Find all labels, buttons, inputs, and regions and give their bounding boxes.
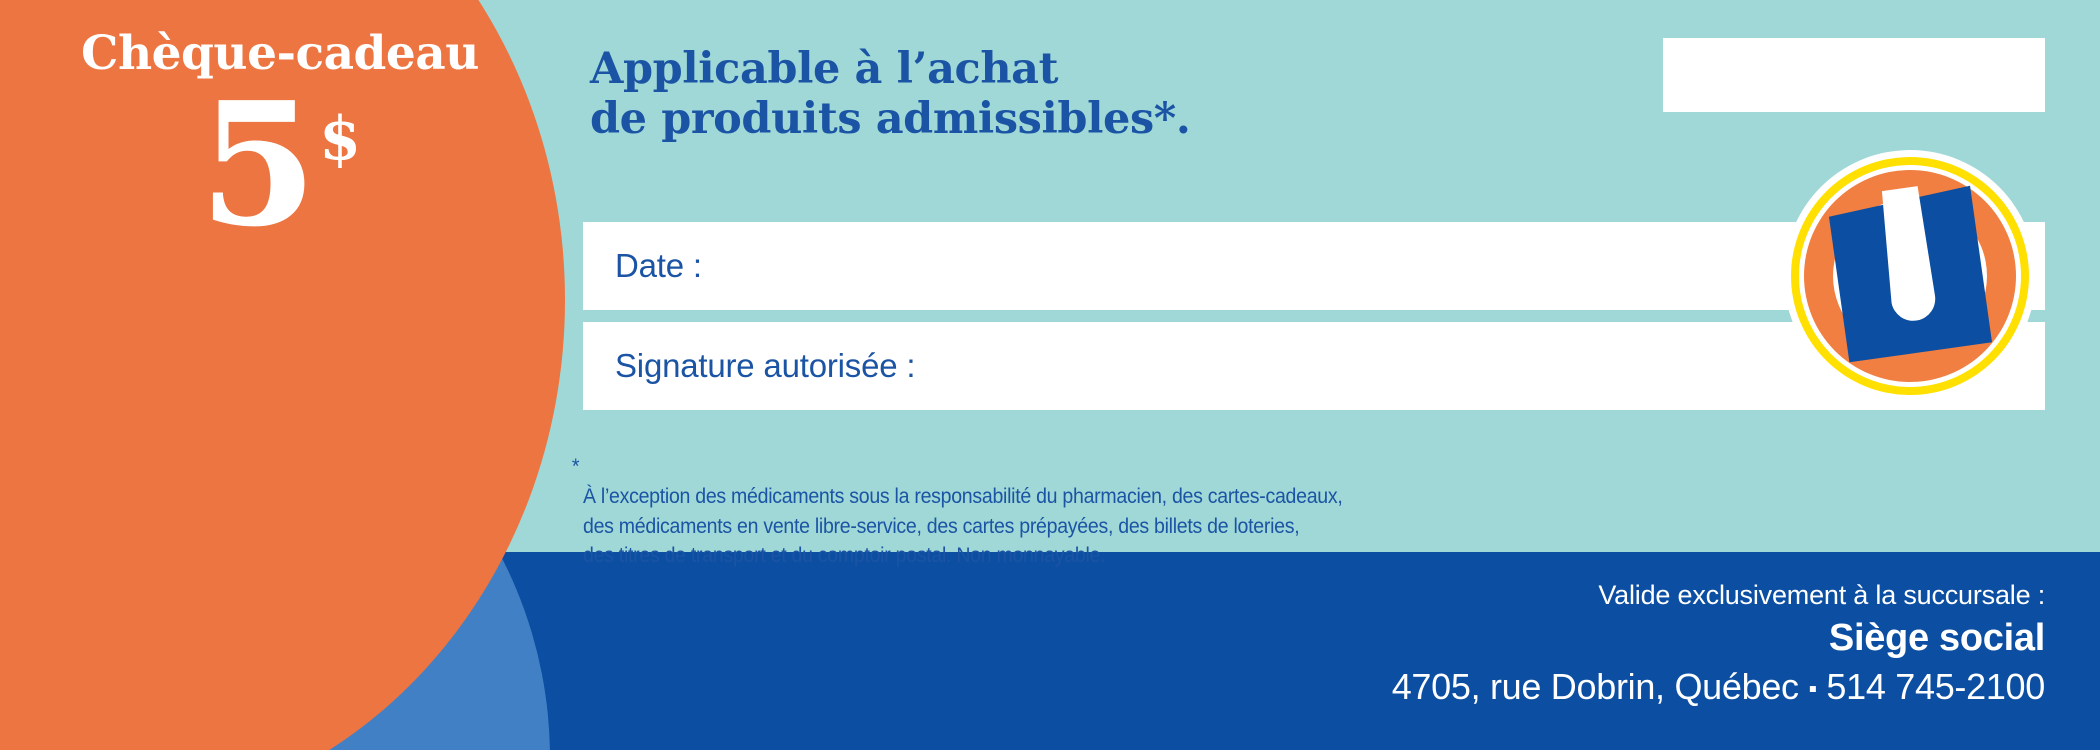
- voucher-amount-panel: Chèque-cadeau 5 $: [0, 0, 560, 420]
- date-field-label: Date :: [615, 247, 702, 285]
- currency-symbol: $: [319, 109, 361, 169]
- uniprix-logo-icon: [1782, 148, 2038, 404]
- branch-validity-label: Valide exclusivement à la succursale :: [1392, 580, 2045, 611]
- uniprix-logo: [1782, 148, 2038, 404]
- amount-row: 5 $: [0, 87, 560, 243]
- gift-voucher: Chèque-cadeau 5 $ Applicable à l’achat d…: [0, 0, 2100, 750]
- footnote-text: À l’exception des médicaments sous la re…: [583, 485, 1343, 568]
- footnote-disclaimer: *À l’exception des médicaments sous la r…: [583, 452, 1606, 571]
- branch-address: 4705, rue Dobrin, Québec: [1392, 666, 1799, 707]
- branch-info: Valide exclusivement à la succursale : S…: [1392, 580, 2045, 708]
- signature-field-label: Signature autorisée :: [615, 347, 915, 385]
- amount-value: 5: [199, 87, 313, 243]
- headline-text: Applicable à l’achat de produits admissi…: [590, 44, 1190, 145]
- reference-number-slot[interactable]: [1663, 38, 2045, 112]
- branch-name: Siège social: [1392, 617, 2045, 660]
- branch-phone: 514 745-2100: [1826, 666, 2045, 707]
- separator-icon: ▪: [1808, 675, 1816, 702]
- branch-address-line: 4705, rue Dobrin, Québec ▪ 514 745-2100: [1392, 666, 2045, 708]
- footnote-asterisk: *: [572, 452, 579, 482]
